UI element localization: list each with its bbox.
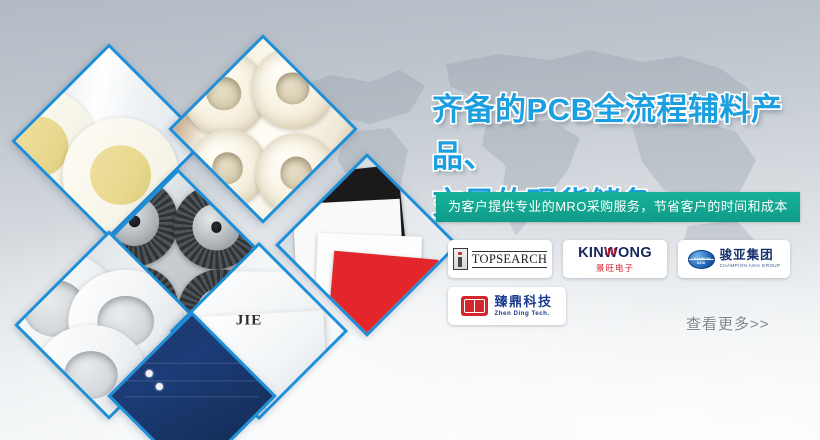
kinwong-wordmark: KINWONG <box>578 246 652 261</box>
logo-champion-asia[interactable]: 骏亚集团 CHAMPION ASIA GROUP <box>678 240 790 278</box>
promo-banner: JIE 齐备的PCB全流程辅料产品、 充足的现货储备 为客户提供专业的MRO采购… <box>0 0 820 440</box>
kinwong-subtext: 景旺电子 <box>578 264 652 273</box>
champion-asia-cn: 骏亚集团 <box>720 249 781 262</box>
kinwong-text-a: KIN <box>578 245 604 261</box>
topsearch-mark-icon <box>453 248 468 270</box>
champion-asia-en: CHAMPION ASIA GROUP <box>720 264 781 269</box>
logo-kinwong[interactable]: KINWONG 景旺电子 <box>563 240 667 278</box>
kinwong-text-w: W <box>604 245 618 261</box>
zhen-ding-cn: 臻鼎科技 <box>494 295 552 308</box>
zhen-ding-en: Zhen Ding Tech. <box>494 311 552 317</box>
topsearch-wordmark: TOPSEARCH <box>472 251 547 268</box>
kinwong-text-b: ONG <box>618 245 652 261</box>
logo-row-1: TOPSEARCH KINWONG 景旺电子 骏亚集团 CHAMPION ASI… <box>448 240 800 278</box>
globe-icon <box>688 250 715 269</box>
logo-topsearch[interactable]: TOPSEARCH <box>448 240 552 278</box>
subtitle-bar: 为客户提供专业的MRO采购服务，节省客户的时间和成本 <box>436 192 800 222</box>
view-more-link[interactable]: 查看更多>> <box>686 313 770 334</box>
zhen-ding-mark-icon <box>461 296 488 316</box>
logo-zhen-ding[interactable]: 臻鼎科技 Zhen Ding Tech. <box>448 287 566 325</box>
